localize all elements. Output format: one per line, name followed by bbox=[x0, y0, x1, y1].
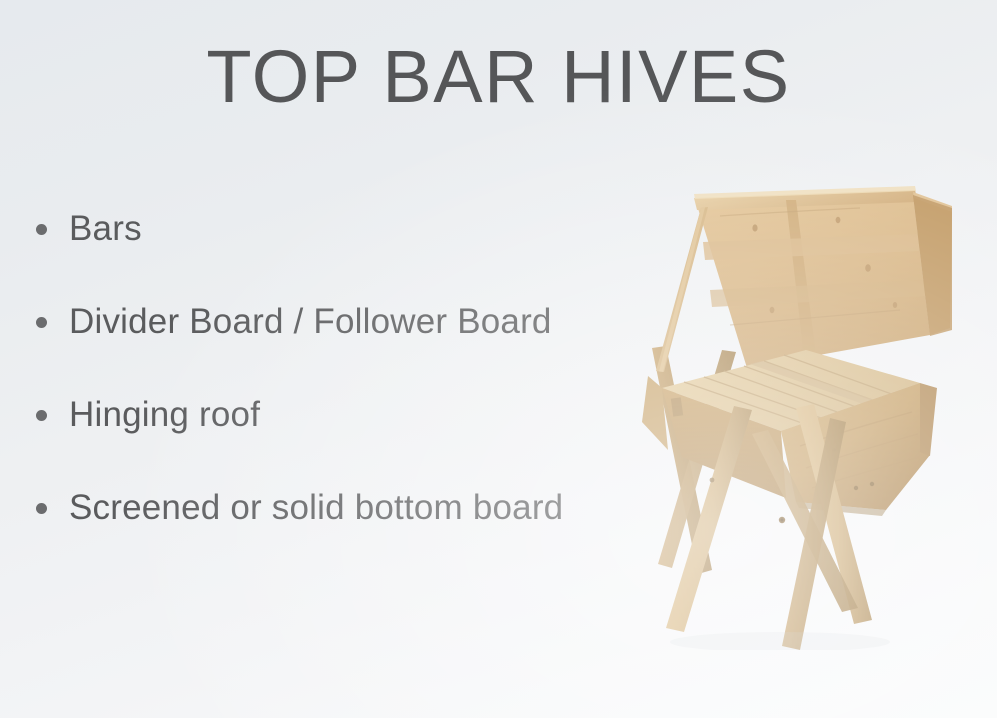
list-item-label: Hinging roof bbox=[69, 392, 578, 438]
bullet-dot-icon bbox=[36, 224, 47, 235]
bullet-dot-icon bbox=[36, 503, 47, 514]
bullet-dot-icon bbox=[36, 410, 47, 421]
bullet-dot-icon bbox=[36, 317, 47, 328]
list-item: Divider Board / Follower Board bbox=[18, 299, 578, 345]
page-title: TOP BAR HIVES bbox=[0, 38, 997, 116]
bullet-list: Bars Divider Board / Follower Board Hing… bbox=[18, 206, 578, 530]
list-item-label: Bars bbox=[69, 206, 578, 252]
list-item-label: Divider Board / Follower Board bbox=[69, 299, 578, 345]
hive-illustration bbox=[600, 150, 997, 650]
hive-roof bbox=[694, 186, 952, 368]
list-item: Screened or solid bottom board bbox=[18, 485, 578, 531]
list-item-label: Screened or solid bottom board bbox=[69, 485, 578, 531]
list-item: Bars bbox=[18, 206, 578, 252]
roof-prop-stick bbox=[656, 207, 708, 372]
top-bar-hive-photo bbox=[600, 150, 997, 650]
slide-canvas: TOP BAR HIVES Bars Divider Board / Follo… bbox=[0, 0, 997, 718]
list-item: Hinging roof bbox=[18, 392, 578, 438]
